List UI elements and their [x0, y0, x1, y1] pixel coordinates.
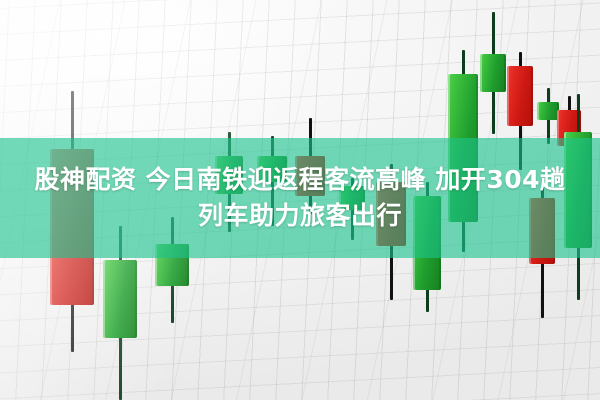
headline-banner-band: 股神配资 今日南铁迎返程客流高峰 加开304趟 列车助力旅客出行	[0, 138, 600, 258]
headline-text: 股神配资 今日南铁迎返程客流高峰 加开304趟 列车助力旅客出行	[20, 162, 580, 234]
candle-body-up	[480, 54, 506, 92]
headline-line-1: 股神配资 今日南铁迎返程客流高峰 加开304趟	[20, 162, 580, 198]
candlestick-banner-image: 股神配资 今日南铁迎返程客流高峰 加开304趟 列车助力旅客出行	[0, 0, 600, 400]
headline-line-2: 列车助力旅客出行	[20, 198, 580, 234]
candle-body-up	[103, 260, 137, 338]
candle-body-down	[507, 66, 533, 126]
candle-body-up	[537, 102, 559, 120]
